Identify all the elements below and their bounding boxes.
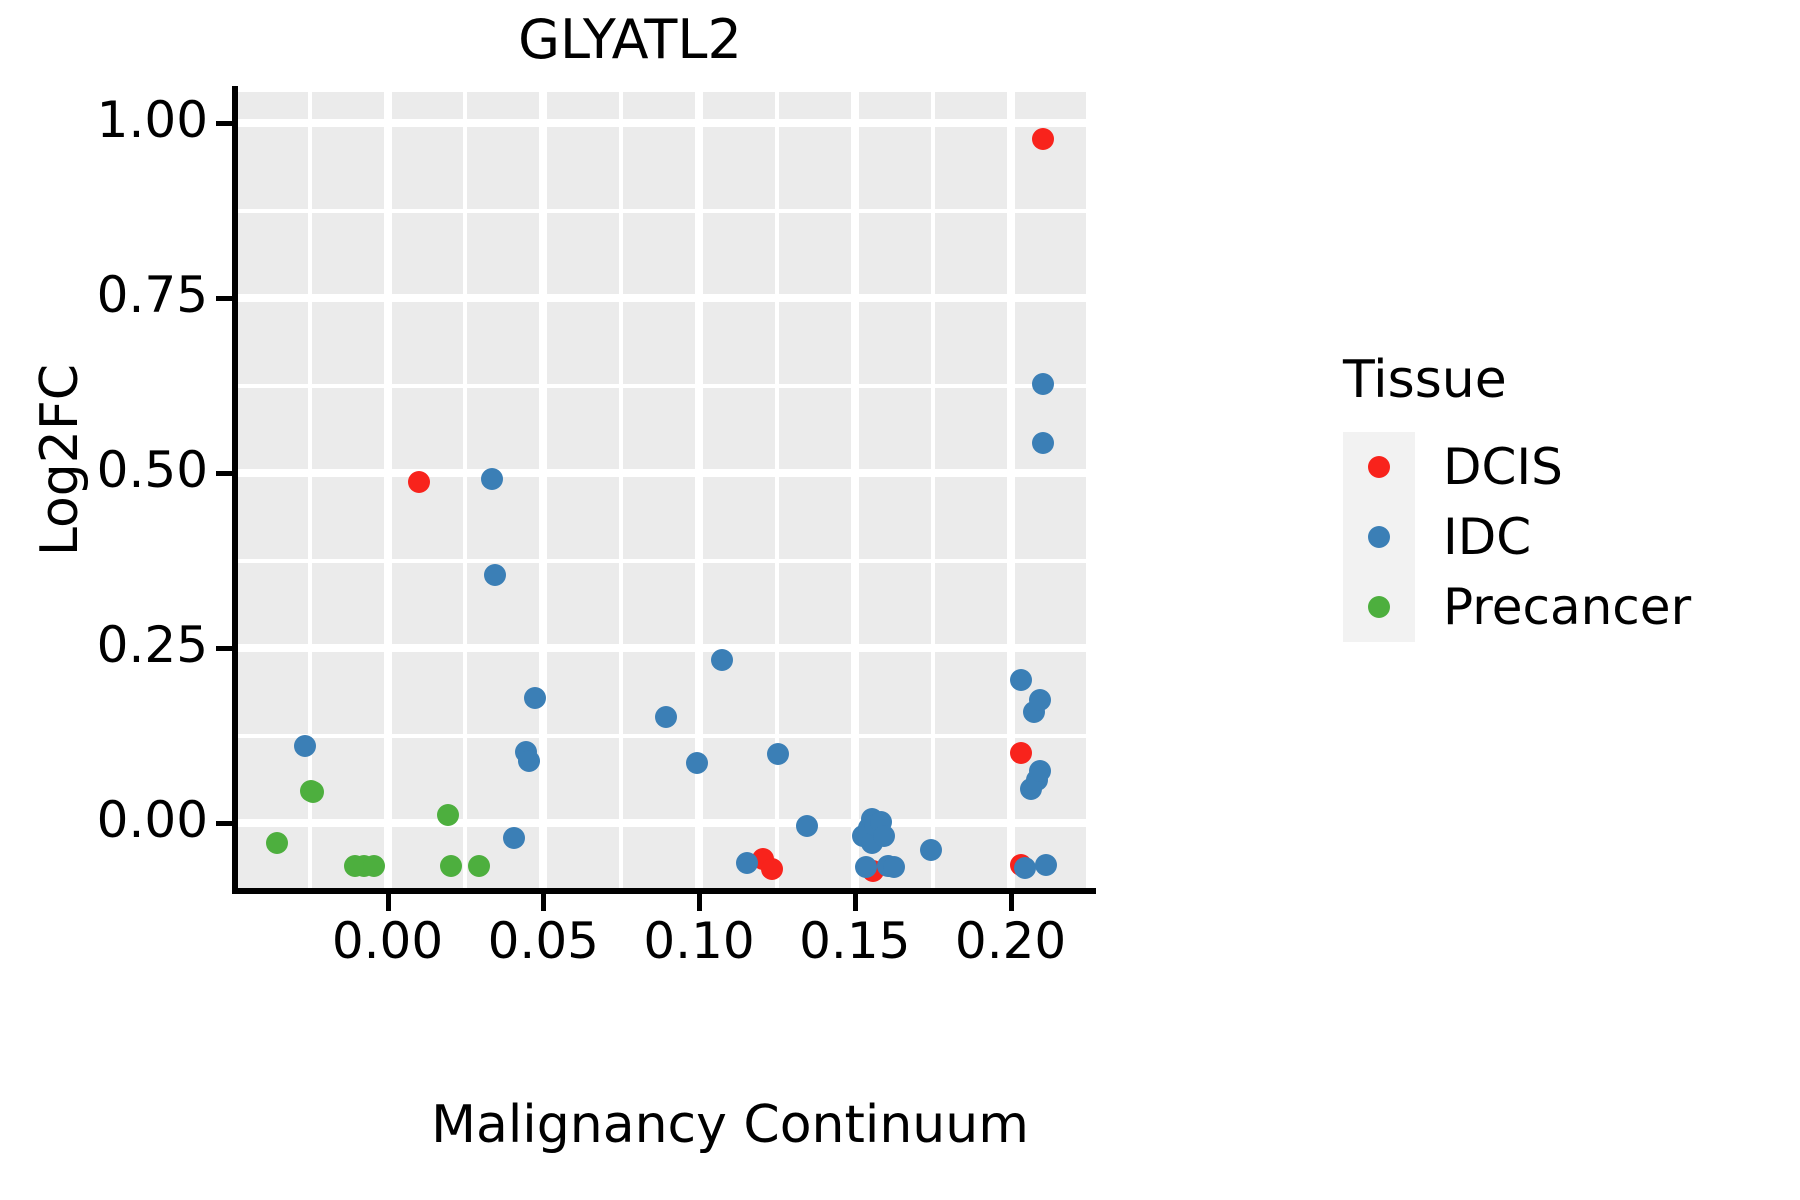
y-axis-tick (216, 296, 233, 301)
y-axis-tick (216, 821, 233, 826)
gridline-minor-horizontal (238, 559, 1090, 563)
y-axis-tick (216, 471, 233, 476)
data-point-idc (686, 752, 708, 774)
legend-title: Tissue (1343, 350, 1778, 410)
data-point-idc (518, 750, 540, 772)
gridline-minor-vertical (1086, 92, 1090, 888)
data-point-idc (855, 856, 877, 878)
legend-item-label: DCIS (1443, 442, 1563, 492)
x-axis-tick-label: 0.20 (911, 912, 1111, 970)
data-point-dcis (761, 858, 783, 880)
data-point-idc (294, 735, 316, 757)
legend-item-label: Precancer (1443, 582, 1691, 632)
data-point-idc (873, 825, 895, 847)
y-axis-tick (216, 646, 233, 651)
legend-item-label: IDC (1443, 512, 1531, 562)
gridline-major-horizontal (238, 469, 1090, 477)
x-axis-tick (697, 894, 702, 911)
data-point-idc (503, 827, 525, 849)
y-axis-tick-label: 1.00 (0, 91, 208, 149)
gridline-major-vertical (384, 92, 392, 888)
gridline-minor-vertical (463, 92, 467, 888)
data-point-idc (883, 856, 905, 878)
gridline-major-vertical (1007, 92, 1015, 888)
data-point-idc (920, 839, 942, 861)
data-point-dcis (408, 471, 430, 493)
gridline-major-horizontal (238, 644, 1090, 652)
gridline-major-horizontal (238, 119, 1090, 127)
data-point-idc (655, 706, 677, 728)
page-title: GLYATL2 (0, 8, 1260, 71)
legend-swatch (1343, 572, 1415, 642)
y-axis-tick (216, 121, 233, 126)
x-axis-tick (541, 894, 546, 911)
data-point-idc (1035, 854, 1057, 876)
data-point-dcis (1032, 128, 1054, 150)
data-point-precancer (468, 855, 490, 877)
legend-keys: DCISIDCPrecancer (1318, 432, 1778, 642)
gridline-minor-horizontal (238, 734, 1090, 738)
legend-swatch (1343, 502, 1415, 572)
legend-swatch (1343, 432, 1415, 502)
gridline-minor-vertical (775, 92, 779, 888)
data-point-idc (736, 852, 758, 874)
gridline-major-horizontal (238, 294, 1090, 302)
data-point-idc (484, 564, 506, 586)
legend-dot-icon (1368, 526, 1390, 548)
legend: Tissue DCISIDCPrecancer (1318, 350, 1778, 642)
data-point-dcis (1010, 742, 1032, 764)
legend-item-dcis[interactable]: DCIS (1318, 432, 1778, 502)
y-axis-tick-label: 0.25 (0, 616, 208, 674)
gridline-minor-vertical (619, 92, 623, 888)
gridline-minor-vertical (931, 92, 935, 888)
data-point-idc (1010, 669, 1032, 691)
gridline-major-vertical (539, 92, 547, 888)
x-axis-tick (386, 894, 391, 911)
plot-panel (238, 92, 1090, 888)
data-point-idc (767, 743, 789, 765)
gridline-minor-vertical (308, 92, 312, 888)
data-point-idc (481, 468, 503, 490)
x-axis-title: Malignancy Continuum (230, 1095, 1230, 1155)
x-axis-tick (1009, 894, 1014, 911)
legend-dot-icon (1368, 456, 1390, 478)
gridline-minor-horizontal (238, 209, 1090, 213)
legend-item-precancer[interactable]: Precancer (1318, 572, 1778, 642)
legend-dot-icon (1368, 596, 1390, 618)
data-point-precancer (266, 832, 288, 854)
data-point-precancer (302, 781, 324, 803)
data-point-idc (796, 815, 818, 837)
y-axis-tick-label: 0.75 (0, 266, 208, 324)
gridline-major-horizontal (238, 819, 1090, 827)
legend-item-idc[interactable]: IDC (1318, 502, 1778, 572)
x-axis-tick (853, 894, 858, 911)
x-axis-line (232, 888, 1096, 894)
data-point-idc (711, 649, 733, 671)
data-point-precancer (363, 855, 385, 877)
y-axis-tick-label: 0.50 (0, 441, 208, 499)
y-axis-line (232, 86, 238, 894)
data-point-idc (1032, 432, 1054, 454)
data-point-idc (1032, 373, 1054, 395)
data-point-precancer (440, 855, 462, 877)
y-axis-tick-label: 0.00 (0, 791, 208, 849)
chart-figure: GLYATL2 Log2FC Malignancy Continuum 0.00… (0, 0, 1800, 1200)
gridline-minor-horizontal (238, 384, 1090, 388)
gridline-major-vertical (851, 92, 859, 888)
data-point-idc (1014, 857, 1036, 879)
data-point-idc (1029, 689, 1051, 711)
